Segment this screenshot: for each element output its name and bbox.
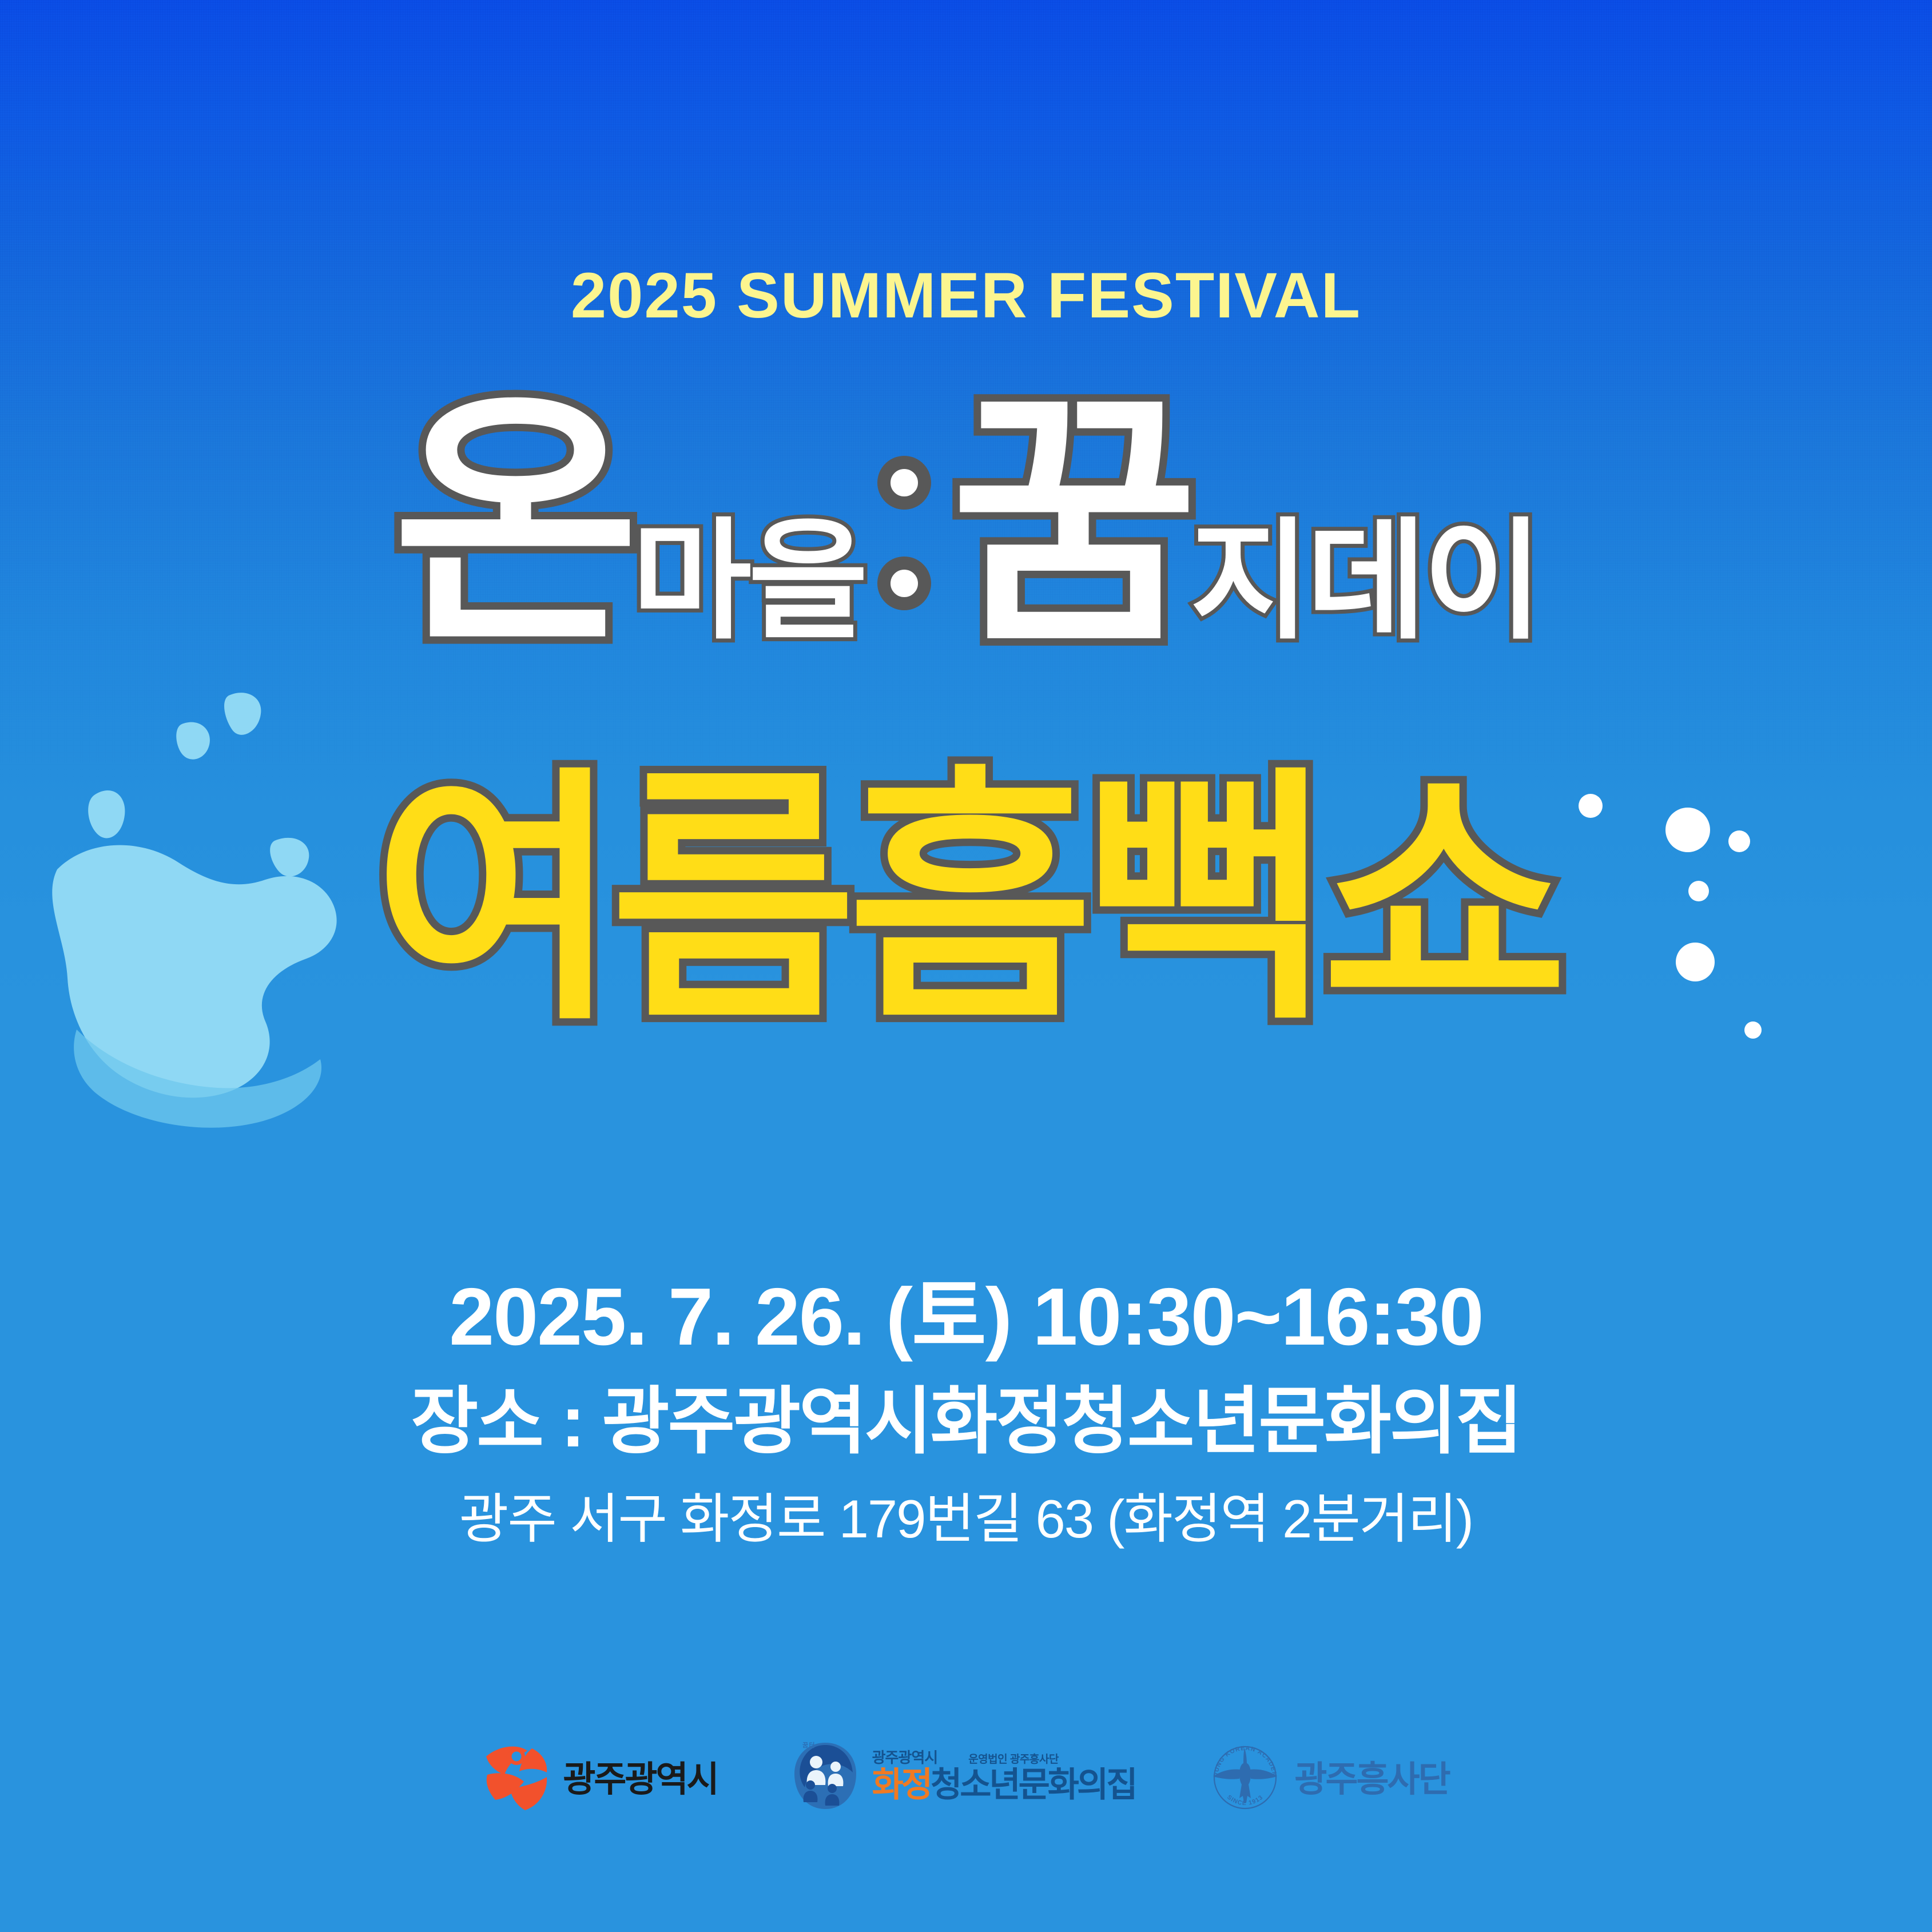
title-line-2: 여름흠뻑쇼 <box>0 772 1932 1029</box>
event-venue: 장소 : 광주광역시화정청소년문화의집 <box>0 1374 1932 1470</box>
poster-eyebrow: 2025 SUMMER FESTIVAL <box>0 259 1932 332</box>
heungsadan-bird-emblem-icon: YOUNG KOREAN ACADEMY SINCE 1913 <box>1209 1739 1282 1813</box>
logo-hwajeong-city-label: 광주광역시 <box>872 1750 938 1765</box>
poster-title: 온 마을 꿈 지데이 여름흠뻑쇼 <box>0 395 1932 1161</box>
logo-hwajeong-name-rest: 청소년문화의집 <box>931 1766 1135 1804</box>
gwangju-city-emblem-icon <box>483 1739 550 1812</box>
title-word-on: 온 <box>392 395 631 653</box>
colon-dot-bottom <box>877 556 931 610</box>
logo-hwajeong-youth-center: 꿈터 광주광역시 운영법인 광주흥사단 화정청소년문화의집 <box>791 1739 1136 1812</box>
event-info-block: 2025. 7. 26. (토) 10:30~16:30 장소 : 광주광역시화… <box>0 1269 1932 1556</box>
logo-hwajeong-top-row: 광주광역시 운영법인 광주흥사단 <box>872 1750 1136 1765</box>
title-word-jidei: 지데이 <box>1190 519 1540 645</box>
event-datetime: 2025. 7. 26. (토) 10:30~16:30 <box>0 1269 1932 1366</box>
logo-hwajeong-operator-label: 운영법인 광주흥사단 <box>968 1754 1059 1765</box>
logo-hwajeong-text: 광주광역시 운영법인 광주흥사단 화정청소년문화의집 <box>872 1750 1136 1802</box>
festival-poster: 2025 SUMMER FESTIVAL 온 마을 꿈 지데이 <box>0 0 1932 1932</box>
title-line-1: 온 마을 꿈 지데이 <box>0 395 1932 653</box>
event-address: 광주 서구 화정로 179번길 63 (화정역 2분거리) <box>0 1483 1932 1556</box>
logo-gwangju-city: 광주광역시 <box>483 1739 717 1812</box>
logo-gwangju-city-label: 광주광역시 <box>563 1750 717 1802</box>
title-word-yeoreum-heumppeok-show: 여름흠뻑쇼 <box>373 772 1559 1029</box>
colon-dot-top <box>877 456 931 510</box>
logo-hwajeong-name-highlight: 화정 <box>872 1766 931 1804</box>
hwajeong-people-emblem-icon: 꿈터 <box>791 1739 860 1812</box>
title-word-maeul: 마을 <box>632 519 865 645</box>
sponsor-logo-row: 광주광역시 꿈터 광주광역시 운영법인 광주흥사단 <box>0 1739 1932 1813</box>
logo-heungsadan-label: 광주흥사단 <box>1294 1750 1449 1802</box>
logo-gwangju-heungsadan: YOUNG KOREAN ACADEMY SINCE 1913 광주흥사단 <box>1209 1739 1449 1813</box>
svg-text:꿈터: 꿈터 <box>802 1741 816 1749</box>
title-word-kkum: 꿈 <box>951 395 1190 653</box>
logo-hwajeong-name: 화정청소년문화의집 <box>872 1768 1136 1802</box>
title-colon-separator <box>865 407 951 653</box>
